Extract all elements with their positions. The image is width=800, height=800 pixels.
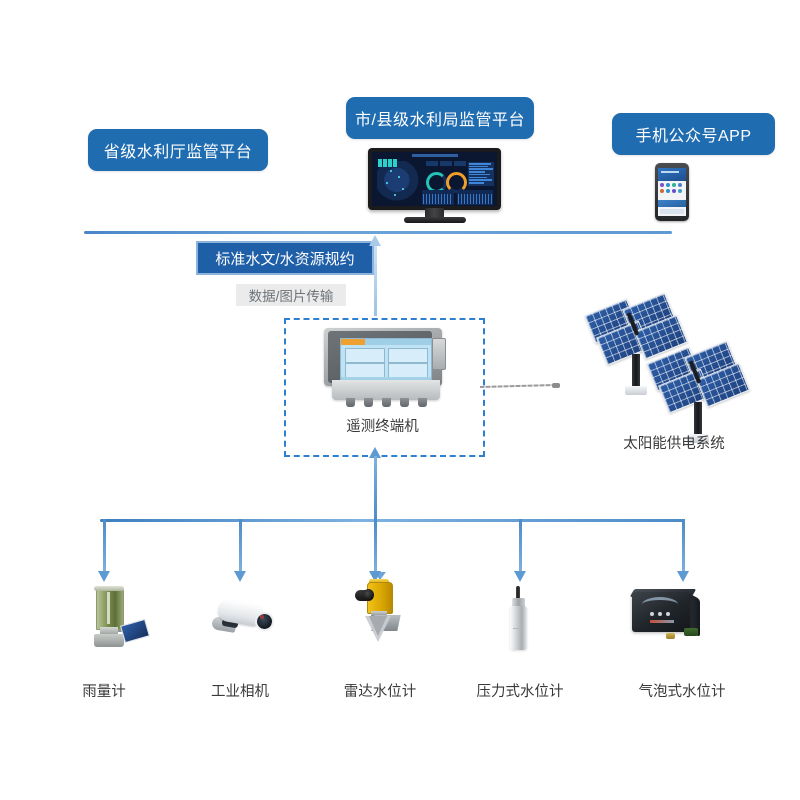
sensor-label-industrial-camera: 工业相机 xyxy=(160,680,320,701)
rain-gauge-icon xyxy=(80,586,152,652)
protocol-standard-box: 标准水文/水资源规约 xyxy=(196,241,374,275)
platform-app-pill[interactable]: 手机公众号APP xyxy=(612,113,775,155)
solar-array-2 xyxy=(650,348,742,410)
rtu-cable-gland xyxy=(364,398,373,407)
rtu-label: 遥测终端机 xyxy=(284,415,481,435)
radar-level-gauge-icon xyxy=(345,578,415,652)
phone-app-icon-grid xyxy=(660,183,684,193)
rtu-cable-gland xyxy=(382,398,391,407)
dashboard-line-chart-1 xyxy=(422,190,454,205)
sensor-label-text: 雷达水位计 xyxy=(344,684,417,700)
sensor-label-text: 雨量计 xyxy=(82,684,126,700)
smartphone-icon xyxy=(655,163,689,223)
sensor-label-radar-level-gauge: 雷达水位计 xyxy=(300,680,460,701)
phone-app-banner xyxy=(658,200,686,207)
rtu-enclosure xyxy=(324,328,442,386)
dashboard-kpi-chips xyxy=(378,159,397,167)
sensor-drop-line xyxy=(239,519,242,575)
uplink-arrow-icon xyxy=(369,235,381,246)
monitor-bezel xyxy=(368,148,501,210)
sensor-drop-line xyxy=(519,519,522,575)
rtu-lcd-cell xyxy=(388,363,428,378)
sensor-label-bubbler-level-gauge: 气泡式水位计 xyxy=(602,680,762,701)
monitor-stand-foot xyxy=(404,217,466,223)
rain-gauge-solar-panel-icon xyxy=(120,619,150,643)
sensor-drop-arrow-icon xyxy=(514,571,526,582)
solar-power-label: 太阳能供电系统 xyxy=(584,432,764,453)
dashboard-line-chart-2 xyxy=(457,190,493,205)
dashboard-title-bar xyxy=(412,154,458,157)
sensor-drop-line xyxy=(103,519,106,575)
industrial-camera-icon xyxy=(210,598,276,646)
sensor-label-pressure-level-gauge: 压力式水位计 xyxy=(440,680,600,701)
transport-mode-label: 数据/图片传输 xyxy=(236,284,346,306)
antenna-icon xyxy=(480,384,555,388)
rtu-lcd-titlebar xyxy=(341,339,431,345)
sensor-drop-arrow-icon xyxy=(98,571,110,582)
rtu-lid-frame xyxy=(328,331,432,383)
rtu-cable-gland xyxy=(346,398,355,407)
rtu-lcd-cell xyxy=(345,363,385,378)
monitor-screen xyxy=(372,152,497,206)
phone-body xyxy=(655,163,689,221)
rtu-cable-gland xyxy=(400,398,409,407)
solar-power-label-text: 太阳能供电系统 xyxy=(623,436,725,452)
sensor-drop-line xyxy=(682,519,685,575)
dashboard-map xyxy=(377,161,421,203)
platform-province-label: 省级水利厅监管平台 xyxy=(104,138,253,162)
sensor-drop-arrow-icon xyxy=(234,571,246,582)
monitor-display-icon xyxy=(368,148,501,228)
rtu-base-housing xyxy=(332,380,440,400)
sensor-label-text: 气泡式水位计 xyxy=(639,684,726,700)
phone-app-header xyxy=(658,168,686,181)
sensor-label-text: 工业相机 xyxy=(211,684,269,700)
sensor-label-text: 压力式水位计 xyxy=(477,684,564,700)
rtu-lcd-screen xyxy=(340,338,432,384)
sensor-drop-arrow-icon xyxy=(677,571,689,582)
platform-city-pill[interactable]: 市/县级水利局监管平台 xyxy=(346,97,534,139)
rtu-lcd-cell xyxy=(388,348,428,363)
rtu-lcd-cell xyxy=(345,348,385,363)
sensor-drop-line xyxy=(374,519,377,575)
rtu-cable-gland xyxy=(418,398,427,407)
rtu-connector-port xyxy=(432,338,446,370)
dashboard-stat-chips xyxy=(426,161,466,166)
dashboard-bar-chart xyxy=(468,162,494,186)
solar-power-icon xyxy=(588,300,758,440)
phone-app-list xyxy=(660,209,684,214)
platform-app-label: 手机公众号APP xyxy=(635,122,751,146)
protocol-standard-label: 标准水文/水资源规约 xyxy=(215,248,354,269)
sensor-bus-line xyxy=(100,519,684,522)
transport-mode-text: 数据/图片传输 xyxy=(249,285,334,305)
pressure-level-gauge-icon xyxy=(492,586,546,652)
network-backbone-line xyxy=(84,231,672,234)
riser-connector xyxy=(374,456,377,520)
platform-city-label: 市/县级水利局监管平台 xyxy=(355,106,525,130)
bubbler-level-gauge-icon xyxy=(626,588,706,650)
rtu-device-icon xyxy=(324,328,450,406)
phone-screen xyxy=(658,168,686,216)
rtu-label-text: 遥测终端机 xyxy=(346,419,419,435)
antenna-tip-icon xyxy=(552,383,560,388)
platform-province-pill[interactable]: 省级水利厅监管平台 xyxy=(88,129,268,171)
uplink-connector xyxy=(374,244,377,316)
